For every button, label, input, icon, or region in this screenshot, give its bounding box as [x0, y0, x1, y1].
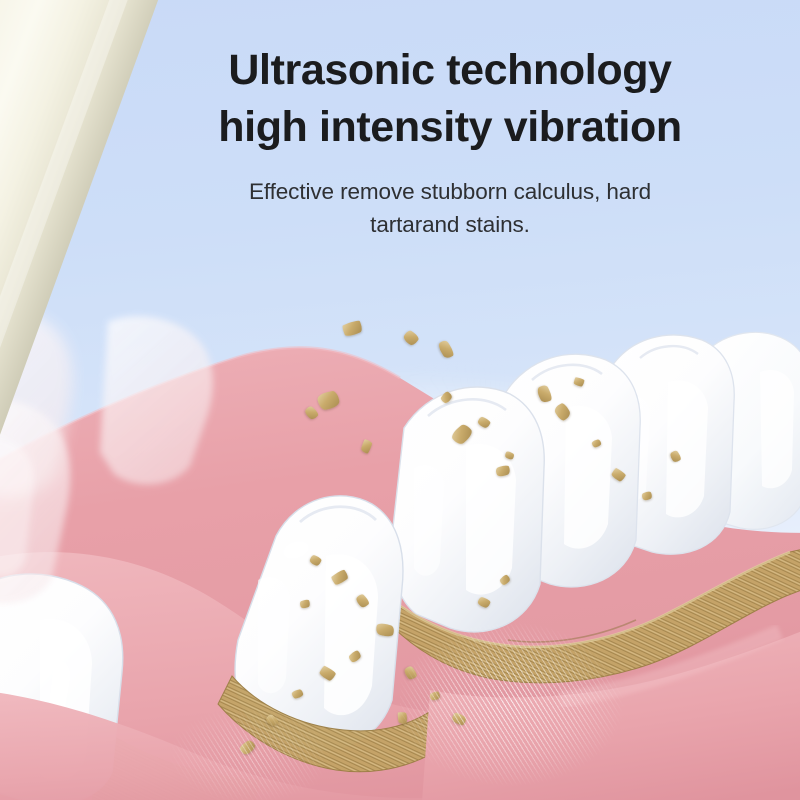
subheadline-line-2: tartarand stains. [150, 208, 750, 241]
product-banner: Ultrasonic technology high intensity vib… [0, 0, 800, 800]
tooth-molar-1 [392, 387, 545, 632]
marketing-copy: Ultrasonic technology high intensity vib… [150, 42, 750, 241]
subheadline-line-1: Effective remove stubborn calculus, hard [150, 175, 750, 208]
headline-line-2: high intensity vibration [150, 99, 750, 156]
headline-line-1: Ultrasonic technology [150, 42, 750, 99]
